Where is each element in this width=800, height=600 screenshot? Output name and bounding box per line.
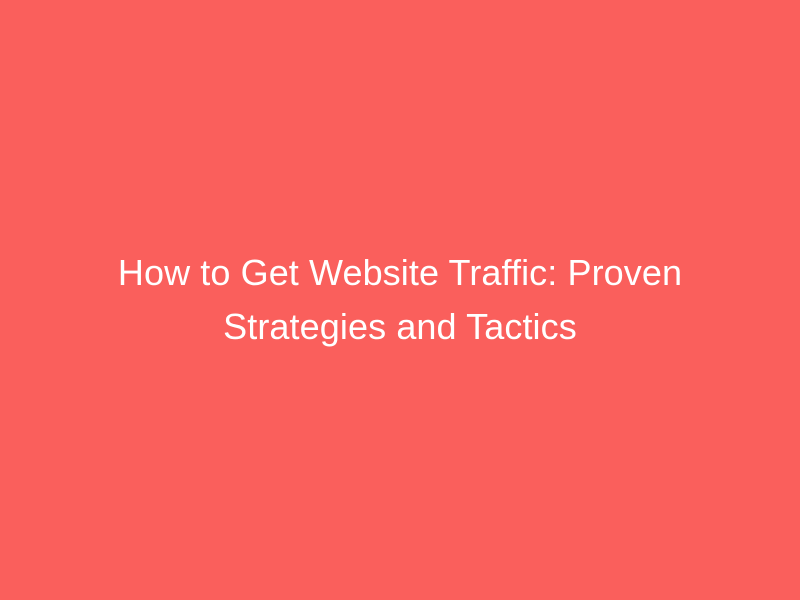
featured-image-card: How to Get Website Traffic: Proven Strat…	[0, 0, 800, 600]
page-title: How to Get Website Traffic: Proven Strat…	[55, 246, 745, 354]
headline-container: How to Get Website Traffic: Proven Strat…	[55, 246, 745, 354]
